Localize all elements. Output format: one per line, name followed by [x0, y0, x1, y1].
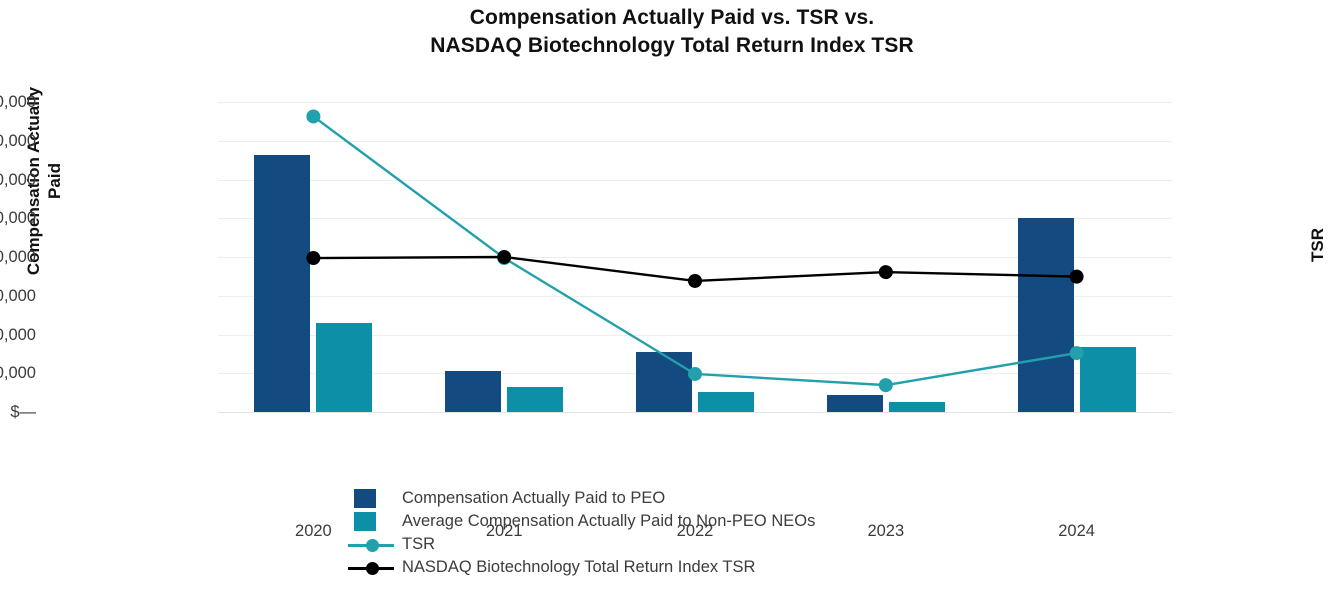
legend-item[interactable]: NASDAQ Biotechnology Total Return Index … — [352, 556, 1052, 579]
legend-item[interactable]: Compensation Actually Paid to PEO — [352, 487, 1052, 510]
legend-key-icon — [352, 556, 398, 579]
legend-marker-icon — [366, 562, 379, 575]
gridline — [218, 180, 1172, 181]
legend-item[interactable]: Average Compensation Actually Paid to No… — [352, 510, 1052, 533]
y-axis-tick-label-left: $— — [0, 404, 36, 421]
y-axis-tick-label-left: $12,000,000 — [0, 172, 36, 189]
y-axis-tick-label-left: $10,000,000 — [0, 210, 36, 227]
y-axis-title-left-line-2: Paid — [44, 41, 65, 321]
y-axis-tick-label-left: $14,000,000 — [0, 133, 36, 150]
y-axis-title-right: TSR — [1308, 185, 1328, 305]
legend-marker-icon — [366, 539, 379, 552]
y-axis-tick-label-left: $8,000,000 — [0, 249, 36, 266]
y-axis-tick-label-left: $6,000,000 — [0, 288, 36, 305]
gridline — [218, 412, 1172, 413]
gridline — [218, 141, 1172, 142]
chart-figure: Compensation Actually Paid vs. TSR vs. N… — [0, 0, 1344, 604]
y-axis-tick-label-left: $16,000,000 — [0, 94, 36, 111]
bar-peo — [827, 395, 883, 412]
bar-peo — [254, 155, 310, 412]
bar-neo — [316, 323, 372, 412]
chart-title-line-1: Compensation Actually Paid vs. TSR vs. — [0, 4, 1344, 32]
bar-peo — [1018, 218, 1074, 412]
legend-label: Compensation Actually Paid to PEO — [398, 489, 665, 508]
bar-neo — [698, 392, 754, 412]
bar-neo — [889, 402, 945, 412]
bar-peo — [636, 352, 692, 412]
bar-neo — [1080, 347, 1136, 412]
legend-key-icon — [352, 487, 398, 510]
y-axis-tick-label-left: $2,000,000 — [0, 365, 36, 382]
bar-neo — [507, 387, 563, 412]
legend-key-icon — [352, 510, 398, 533]
legend-swatch-icon — [354, 489, 376, 508]
legend-item[interactable]: TSR — [352, 533, 1052, 556]
legend-key-icon — [352, 533, 398, 556]
chart-title: Compensation Actually Paid vs. TSR vs. N… — [0, 4, 1344, 60]
legend-label: Average Compensation Actually Paid to No… — [398, 512, 815, 531]
chart-title-line-2: NASDAQ Biotechnology Total Return Index … — [0, 32, 1344, 60]
chart-legend: Compensation Actually Paid to PEOAverage… — [352, 487, 1052, 579]
bar-peo — [445, 371, 501, 412]
legend-label: TSR — [398, 535, 435, 554]
legend-swatch-icon — [354, 512, 376, 531]
y-axis-tick-label-left: $4,000,000 — [0, 327, 36, 344]
plot-area: $16,000,000$14,000,000$12,000,000$10,000… — [218, 102, 1172, 412]
legend-label: NASDAQ Biotechnology Total Return Index … — [398, 558, 755, 577]
gridline — [218, 102, 1172, 103]
